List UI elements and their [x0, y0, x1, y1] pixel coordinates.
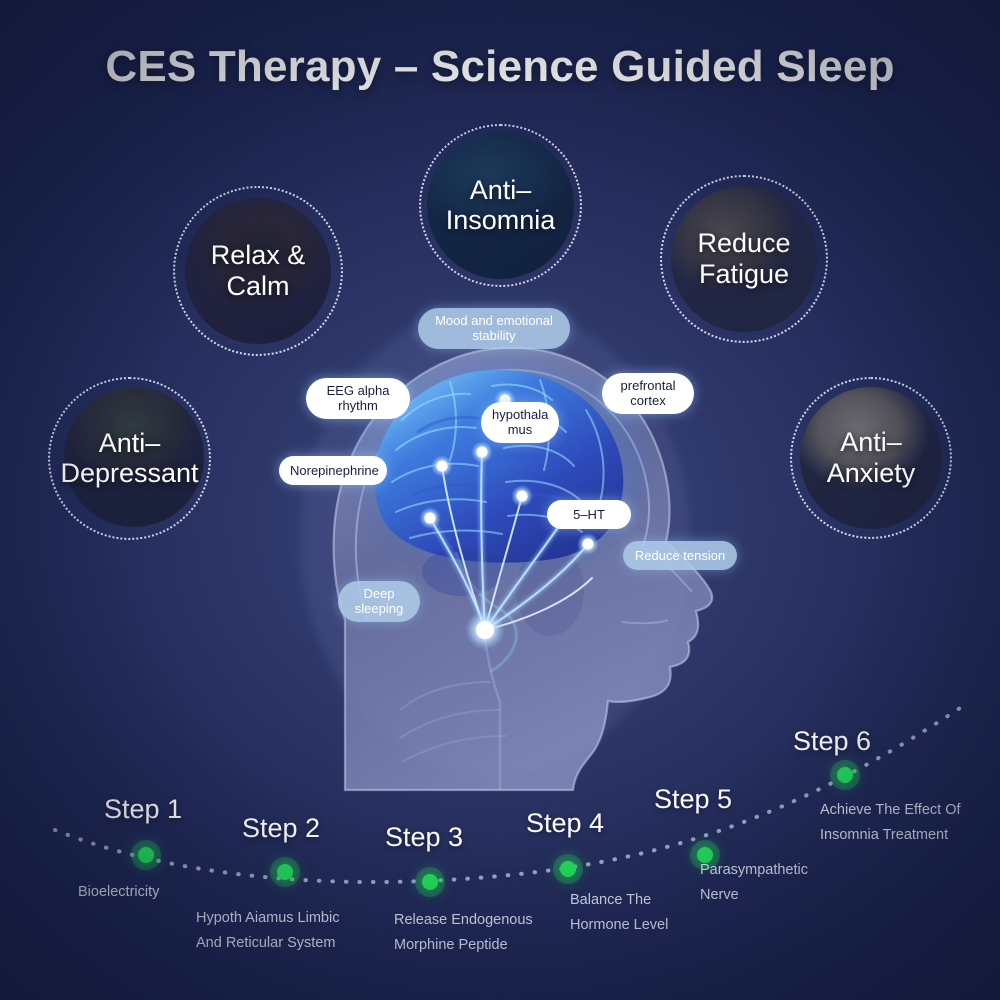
step-desc-3: Release Endogenous Morphine Peptide — [394, 908, 533, 959]
step-desc-1: Bioelectricity — [78, 880, 159, 905]
brain-label-norepinephrine: Norepinephrine — [279, 456, 387, 485]
step-label-5: Step 5 — [654, 784, 732, 815]
brain-label-deep-sleeping: Deep sleeping — [338, 581, 420, 622]
benefit-bubble-anti-depressant[interactable]: Anti– Depressant — [48, 377, 211, 540]
step-desc-6: Achieve The Effect Of Insomnia Treatment — [820, 798, 961, 849]
benefit-bubble-reduce-fatigue[interactable]: Reduce Fatigue — [660, 175, 828, 343]
step-desc-5: Parasympathetic Nerve — [700, 858, 808, 909]
benefit-photo — [427, 132, 574, 279]
step-label-3: Step 3 — [385, 822, 463, 853]
step-dot-6 — [837, 767, 853, 783]
steps-timeline: Step 1 Step 2 Step 3 Step 4 Step 5 Step … — [0, 680, 1000, 1000]
step-label-4: Step 4 — [526, 808, 604, 839]
step-desc-4: Balance The Hormone Level — [570, 888, 668, 939]
benefit-bubble-relax-and-calm[interactable]: Relax & Calm — [173, 186, 343, 356]
step-dot-1 — [138, 847, 154, 863]
infographic-canvas: Mood and emotional stability EEG alpha r… — [0, 0, 1000, 1000]
brain-label-5-ht: 5–HT — [547, 500, 631, 529]
benefit-bubble-anti-anxiety[interactable]: Anti– Anxiety — [790, 377, 952, 539]
brain-label-eeg-alpha-rhythm: EEG alpha rhythm — [306, 378, 410, 419]
benefit-photo — [800, 387, 942, 529]
step-label-6: Step 6 — [793, 726, 871, 757]
brain-label-reduce-tension: Reduce tension — [623, 541, 737, 570]
brain-label-prefrontal-cortex: prefrontal cortex — [602, 373, 694, 414]
benefit-bubble-anti-insomnia[interactable]: Anti– Insomnia — [419, 124, 582, 287]
brain-label-mood-and-emotional-stability: Mood and emotional stability — [418, 308, 570, 349]
benefit-photo — [64, 387, 204, 527]
step-label-2: Step 2 — [242, 813, 320, 844]
step-label-1: Step 1 — [104, 794, 182, 825]
step-desc-2: Hypoth Aiamus Limbic And Reticular Syste… — [196, 906, 339, 957]
page-title: CES Therapy – Science Guided Sleep — [0, 42, 1000, 92]
brain-label-hypothalamus: hypothala mus — [481, 402, 559, 443]
step-dot-2 — [277, 864, 293, 880]
benefit-photo — [671, 186, 817, 332]
benefit-photo — [185, 198, 331, 344]
step-dot-3 — [422, 874, 438, 890]
step-dot-4 — [560, 861, 576, 877]
